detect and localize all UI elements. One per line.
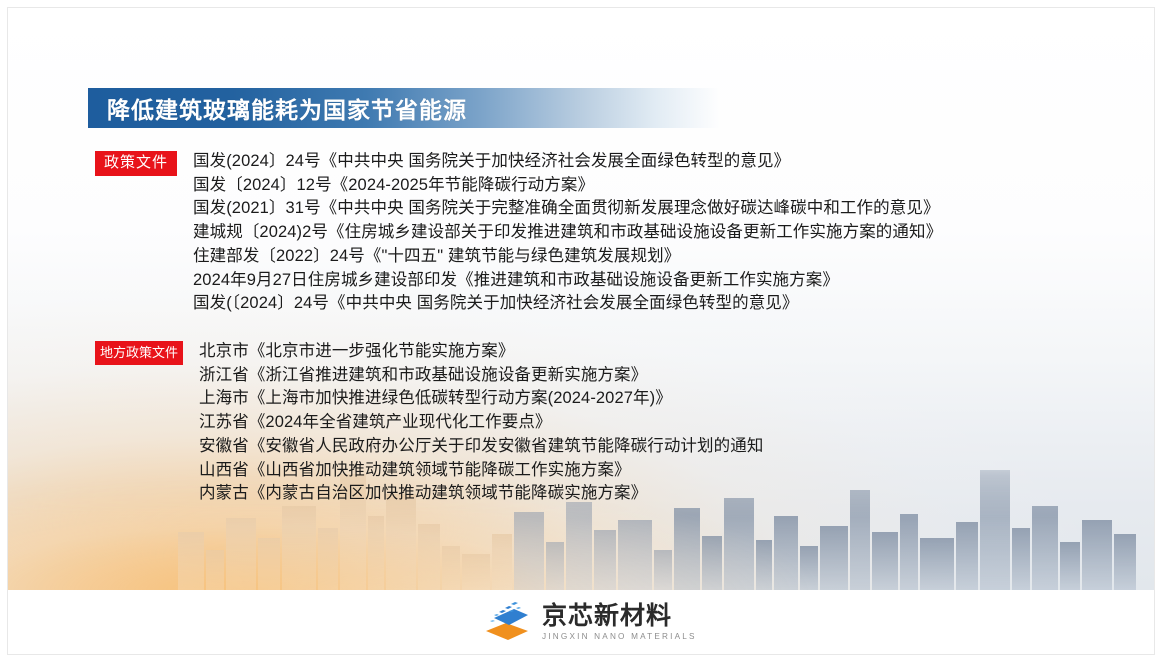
presentation-slide: 降低建筑玻璃能耗为国家节省能源 政策文件 国发(2024〕24号《中共中央 国务…	[0, 0, 1164, 662]
logo-name-en: JINGXIN NANO MATERIALS	[542, 633, 697, 641]
slide-content: 政策文件 国发(2024〕24号《中共中央 国务院关于加快经济社会发展全面绿色转…	[0, 0, 1164, 662]
list-item: 内蒙古《内蒙古自治区加快推动建筑领域节能降碳实施方案》	[199, 482, 763, 506]
list-item: 国发〔2024〕12号《2024-2025年节能降碳行动方案》	[193, 174, 942, 198]
list-item: 江苏省《2024年全省建筑产业现代化工作要点》	[199, 411, 763, 435]
list-item: 建城规〔2024)2号《住房城乡建设部关于印发推进建筑和市政基础设施设备更新工作…	[193, 221, 942, 245]
list-item: 浙江省《浙江省推进建筑和市政基础设施设备更新实施方案》	[199, 364, 763, 388]
policy-documents-section: 政策文件 国发(2024〕24号《中共中央 国务院关于加快经济社会发展全面绿色转…	[95, 150, 942, 316]
list-item: 国发(〔2024〕24号《中共中央 国务院关于加快经济社会发展全面绿色转型的意见…	[193, 292, 942, 316]
policy-documents-list: 国发(2024〕24号《中共中央 国务院关于加快经济社会发展全面绿色转型的意见》…	[193, 150, 942, 316]
local-policy-section-badge: 地方政策文件	[95, 341, 183, 365]
list-item: 安徽省《安徽省人民政府办公厅关于印发安徽省建筑节能降碳行动计划的通知	[199, 435, 763, 459]
logo-wordmark: 京芯新材料 JINGXIN NANO MATERIALS	[542, 603, 697, 640]
list-item: 北京市《北京市进一步强化节能实施方案》	[199, 340, 763, 364]
company-logo: 京芯新材料 JINGXIN NANO MATERIALS	[482, 600, 697, 644]
list-item: 上海市《上海市加快推进绿色低碳转型行动方案(2024-2027年)》	[199, 387, 763, 411]
list-item: 住建部发〔2022〕24号《"十四五" 建筑节能与绿色建筑发展规划》	[193, 245, 942, 269]
list-item: 国发(2024〕24号《中共中央 国务院关于加快经济社会发展全面绿色转型的意见》	[193, 150, 942, 174]
local-policy-documents-list: 北京市《北京市进一步强化节能实施方案》 浙江省《浙江省推进建筑和市政基础设施设备…	[199, 340, 763, 506]
list-item: 山西省《山西省加快推动建筑领域节能降碳工作实施方案》	[199, 459, 763, 483]
list-item: 2024年9月27日住房城乡建设部印发《推进建筑和市政基础设施设备更新工作实施方…	[193, 269, 942, 293]
local-policy-documents-section: 地方政策文件 北京市《北京市进一步强化节能实施方案》 浙江省《浙江省推进建筑和市…	[95, 340, 763, 506]
list-item: 国发(2021〕31号《中共中央 国务院关于完整准确全面贯彻新发展理念做好碳达峰…	[193, 197, 942, 221]
jingxin-logo-mark-icon	[482, 600, 532, 644]
policy-section-badge: 政策文件	[95, 151, 177, 176]
logo-name-cn: 京芯新材料	[542, 603, 697, 629]
